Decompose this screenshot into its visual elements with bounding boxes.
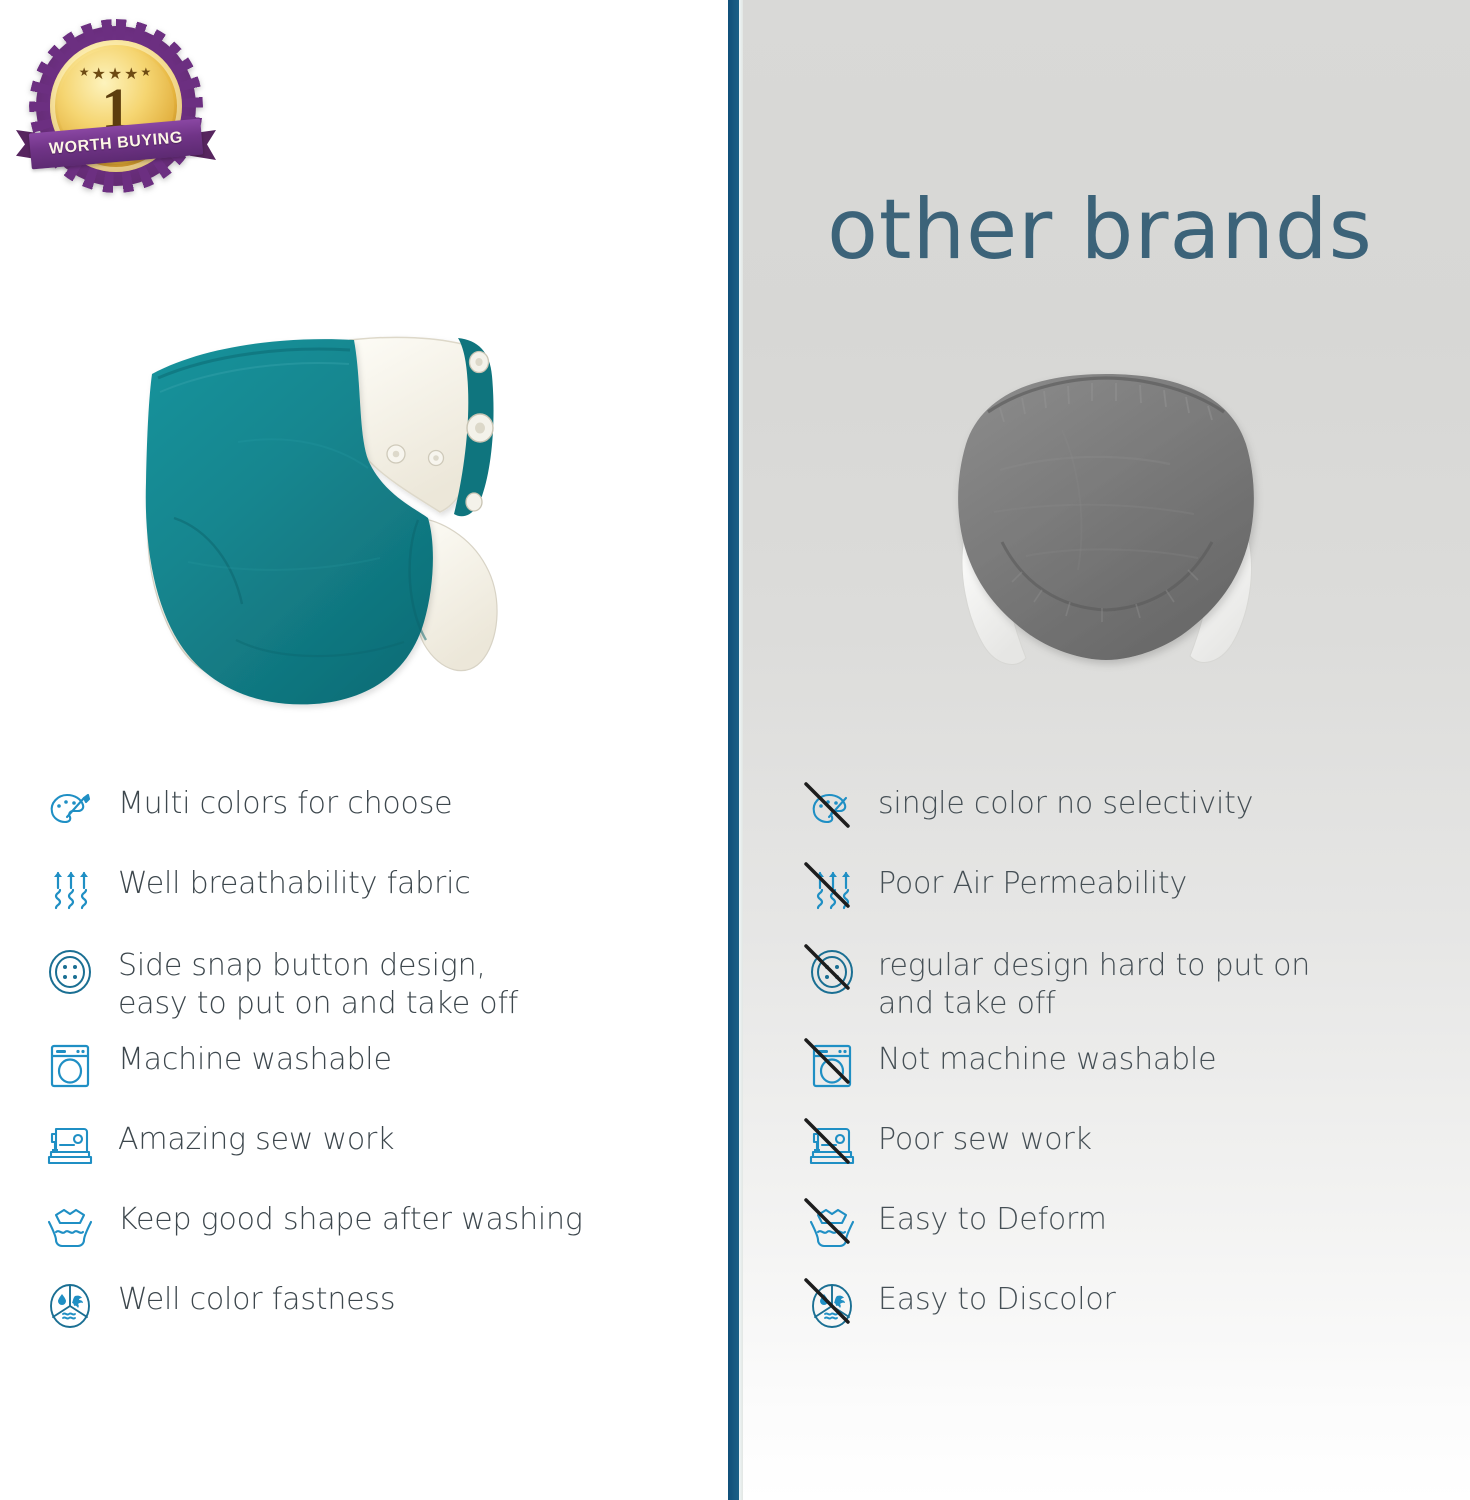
feature-label: Amazing sew work — [118, 1118, 394, 1159]
feature-row: Poor sew work — [806, 1118, 1456, 1176]
feature-row: Multi colors for choose — [44, 782, 734, 840]
feature-label: Machine washable — [118, 1038, 392, 1079]
palette-icon — [44, 784, 96, 836]
feature-row: Well breathability fabric — [44, 862, 734, 920]
sewing-machine-icon — [44, 1120, 96, 1172]
feature-row: Easy to Deform — [806, 1198, 1456, 1256]
feature-row: Keep good shape after washing — [44, 1198, 734, 1256]
badge-ribbon: WORTH BUYING — [16, 124, 216, 168]
our-product-feature-list: Multi colors for choose Well breathabili… — [44, 782, 734, 1354]
other-brand-product-image — [930, 360, 1280, 680]
breathability-icon — [44, 864, 96, 916]
sewing-machine-icon — [806, 1120, 858, 1172]
comparison-infographic: ★★★★★ 1 WORTH BUYING other brands — [0, 0, 1470, 1500]
feature-row: Not machine washable — [806, 1038, 1456, 1096]
feature-label: Poor Air Permeability — [878, 862, 1187, 903]
feature-label: Well color fastness — [118, 1278, 395, 1319]
star-icon: ★ — [79, 65, 92, 79]
color-fastness-icon — [806, 1280, 858, 1332]
our-product-image — [118, 322, 538, 722]
feature-label: single color no selectivity — [878, 782, 1253, 823]
color-fastness-icon — [44, 1280, 96, 1332]
feature-row: Side snap button design,easy to put on a… — [44, 944, 734, 1024]
hand-wash-icon — [806, 1200, 858, 1252]
feature-label: Not machine washable — [878, 1038, 1216, 1079]
feature-row: regular design hard to put onand take of… — [806, 944, 1456, 1024]
feature-row: Well color fastness — [44, 1278, 734, 1336]
teal-diaper-illustration — [118, 322, 538, 722]
snap-button-icon — [44, 946, 96, 998]
feature-row: single color no selectivity — [806, 782, 1456, 840]
feature-row: Easy to Discolor — [806, 1278, 1456, 1336]
washing-machine-icon — [44, 1040, 96, 1092]
feature-label: Easy to Deform — [878, 1198, 1107, 1239]
feature-label: Poor sew work — [878, 1118, 1092, 1159]
palette-icon — [806, 784, 858, 836]
feature-row: Machine washable — [44, 1038, 734, 1096]
feature-label: Keep good shape after washing — [118, 1198, 583, 1239]
star-icon: ★ — [141, 65, 154, 79]
feature-label: regular design hard to put onand take of… — [878, 944, 1310, 1024]
feature-label: Side snap button design,easy to put on a… — [118, 944, 518, 1024]
hand-wash-icon — [44, 1200, 96, 1252]
ribbon-label: WORTH BUYING — [29, 119, 203, 170]
breathability-icon — [806, 864, 858, 916]
feature-label: Multi colors for choose — [118, 782, 452, 823]
feature-row: Amazing sew work — [44, 1118, 734, 1176]
other-brands-title: other brands — [742, 188, 1458, 271]
snap-button-icon — [806, 946, 858, 998]
gray-pants-illustration — [930, 360, 1280, 680]
feature-row: Poor Air Permeability — [806, 862, 1456, 920]
other-brands-feature-list: single color no selectivity Poor Air Per… — [806, 782, 1456, 1354]
worth-buying-badge: ★★★★★ 1 WORTH BUYING — [14, 22, 219, 197]
washing-machine-icon — [806, 1040, 858, 1092]
feature-label: Well breathability fabric — [118, 862, 471, 903]
feature-label: Easy to Discolor — [878, 1278, 1116, 1319]
